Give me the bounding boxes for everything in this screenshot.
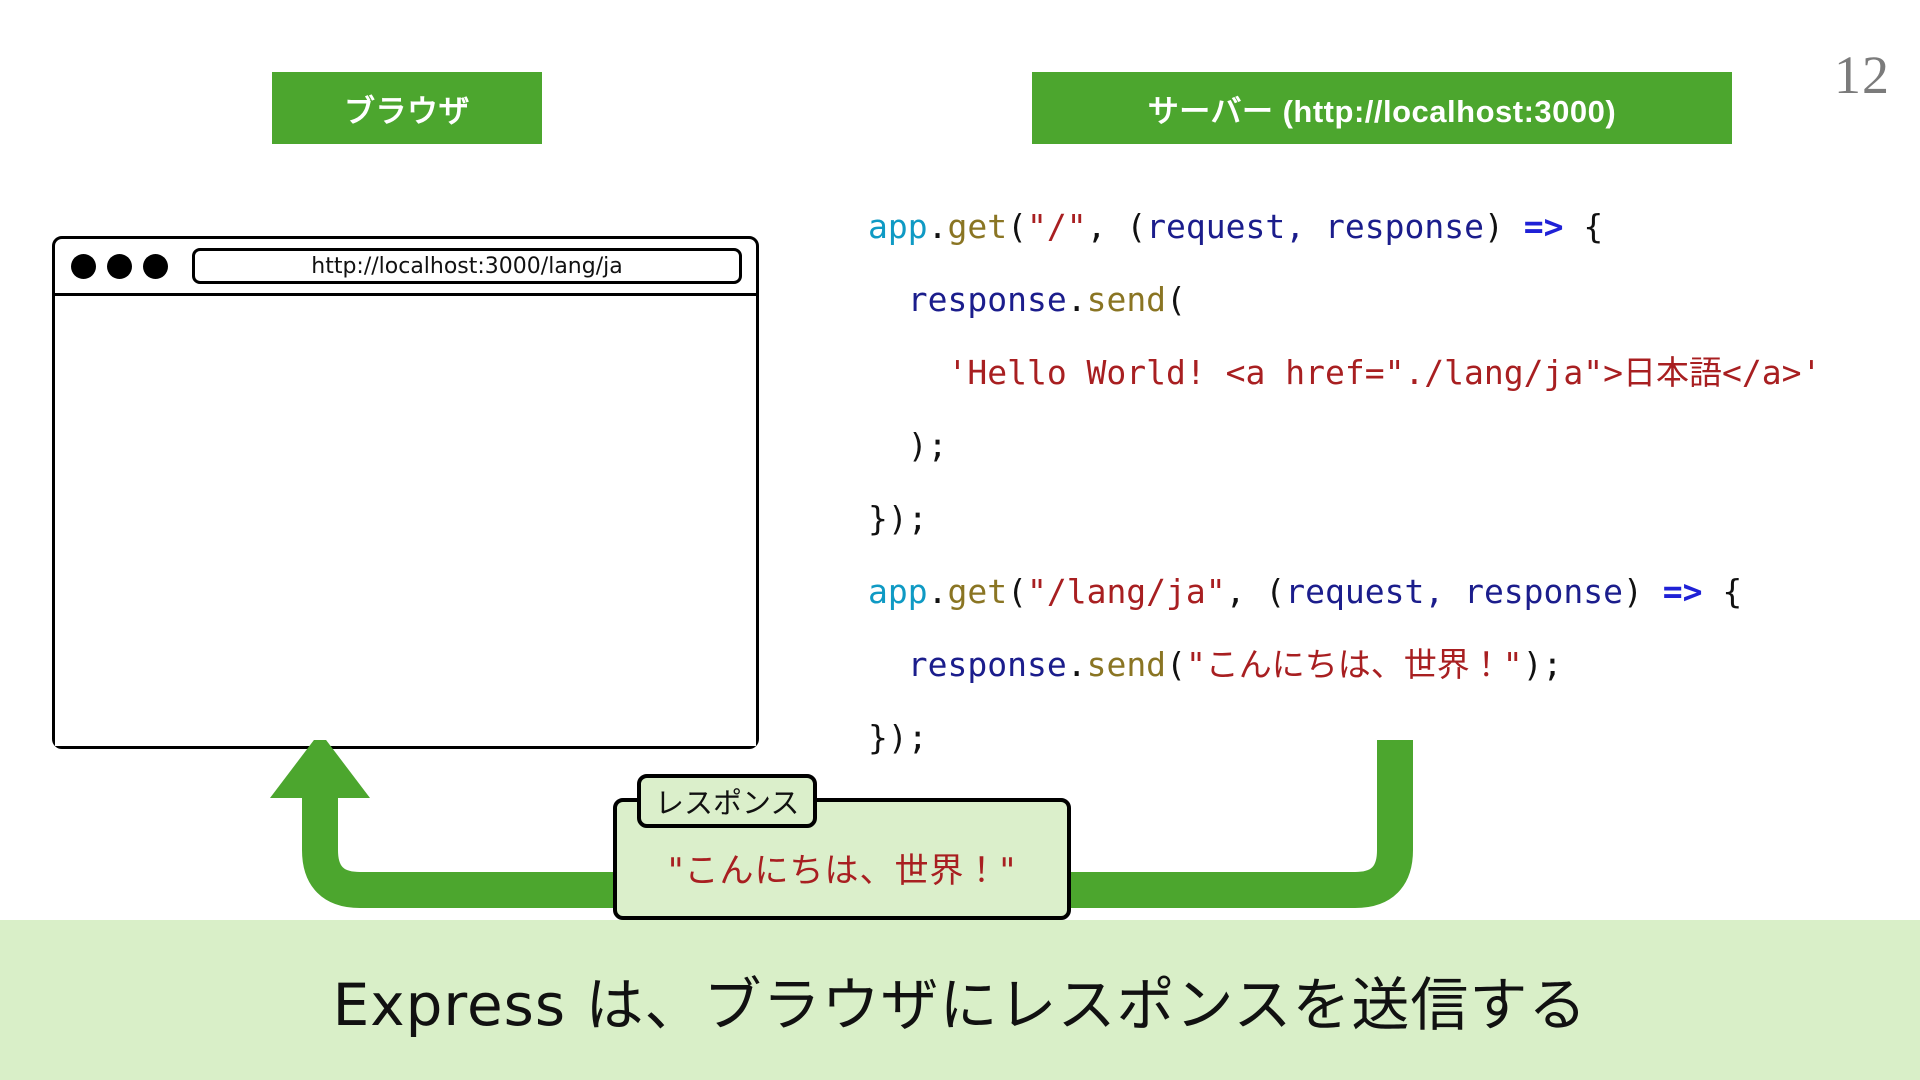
browser-window: http://localhost:3000/lang/ja xyxy=(52,236,759,749)
response-callout-text: "こんにちは、世界！" xyxy=(668,843,1016,892)
code-token-plain: ); xyxy=(908,426,948,465)
code-token-plain: . xyxy=(928,572,948,611)
code-token-param: request, response xyxy=(1146,207,1484,246)
code-line: }); xyxy=(868,482,1878,555)
server-code-block: app.get("/", (request, response) => { re… xyxy=(868,190,1878,774)
code-token-plain: ) xyxy=(1623,572,1663,611)
code-token-fn: get xyxy=(947,572,1007,611)
code-token-plain: ) xyxy=(1484,207,1524,246)
code-token-plain: { xyxy=(1563,207,1603,246)
code-indent xyxy=(868,426,908,465)
browser-viewport xyxy=(55,296,756,746)
code-token-plain: ( xyxy=(1007,572,1027,611)
code-token-obj: app xyxy=(868,572,928,611)
address-bar[interactable]: http://localhost:3000/lang/ja xyxy=(192,248,742,284)
code-line: }); xyxy=(868,701,1878,774)
code-token-param: response xyxy=(908,645,1067,684)
server-label-text: サーバー (http://localhost:3000) xyxy=(1148,86,1616,131)
code-token-plain: }); xyxy=(868,718,928,757)
caption-banner: Express は、ブラウザにレスポンスを送信する xyxy=(0,920,1920,1080)
browser-label-text: ブラウザ xyxy=(344,86,470,131)
code-line: 'Hello World! <a href="./lang/ja">日本語</a… xyxy=(868,336,1878,409)
browser-label-chip: ブラウザ xyxy=(272,72,542,144)
window-minimize-dot-icon[interactable] xyxy=(107,254,132,279)
server-label-chip: サーバー (http://localhost:3000) xyxy=(1032,72,1732,144)
code-token-fn: send xyxy=(1087,280,1166,319)
code-token-plain: ( xyxy=(1166,280,1186,319)
code-indent xyxy=(868,353,947,392)
code-line: app.get("/lang/ja", (request, response) … xyxy=(868,555,1878,628)
code-token-str: "こんにちは、世界！" xyxy=(1186,645,1523,684)
code-token-param: request, response xyxy=(1285,572,1623,611)
code-line: response.send( xyxy=(868,263,1878,336)
response-callout-tab: レスポンス xyxy=(637,774,817,828)
page-number: 12 xyxy=(1834,48,1890,102)
code-token-plain: { xyxy=(1703,572,1743,611)
code-token-plain: . xyxy=(928,207,948,246)
code-token-arrow: => xyxy=(1663,572,1703,611)
caption-text: Express は、ブラウザにレスポンスを送信する xyxy=(333,958,1588,1042)
code-token-plain: ); xyxy=(1523,645,1563,684)
window-close-dot-icon[interactable] xyxy=(71,254,96,279)
window-maximize-dot-icon[interactable] xyxy=(143,254,168,279)
code-token-plain: , ( xyxy=(1226,572,1286,611)
code-token-plain: ( xyxy=(1007,207,1027,246)
code-token-plain: . xyxy=(1067,645,1087,684)
code-token-str: "/lang/ja" xyxy=(1027,572,1226,611)
code-token-str: "/" xyxy=(1027,207,1087,246)
code-line: response.send("こんにちは、世界！"); xyxy=(868,628,1878,701)
code-token-plain: . xyxy=(1067,280,1087,319)
code-line: ); xyxy=(868,409,1878,482)
browser-titlebar: http://localhost:3000/lang/ja xyxy=(55,239,756,296)
code-indent xyxy=(868,645,908,684)
code-token-arrow: => xyxy=(1524,207,1564,246)
address-bar-url-text: http://localhost:3000/lang/ja xyxy=(311,254,622,279)
code-indent xyxy=(868,280,908,319)
code-token-param: response xyxy=(908,280,1067,319)
code-token-obj: app xyxy=(868,207,928,246)
code-line: app.get("/", (request, response) => { xyxy=(868,190,1878,263)
code-token-plain: }); xyxy=(868,499,928,538)
code-token-plain: ( xyxy=(1166,645,1186,684)
code-token-str: 'Hello World! <a href="./lang/ja">日本語</a… xyxy=(947,353,1821,392)
response-callout-tab-label: レスポンス xyxy=(655,780,799,822)
code-token-plain: , ( xyxy=(1087,207,1147,246)
code-token-fn: get xyxy=(947,207,1007,246)
code-token-fn: send xyxy=(1087,645,1166,684)
